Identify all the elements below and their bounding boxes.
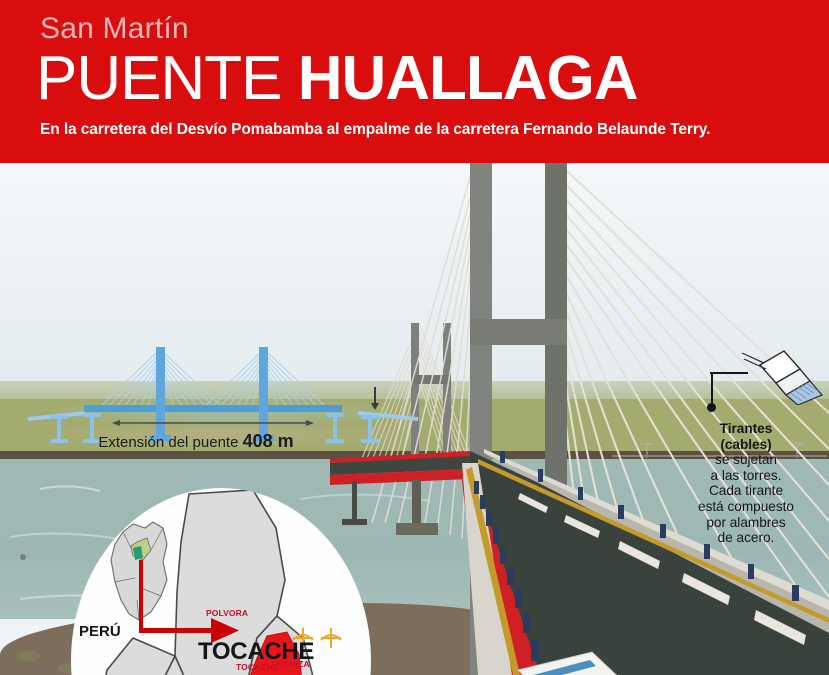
title-bold-part: HUALLAGA xyxy=(298,44,638,113)
page-title: PUENTE HUALLAGA xyxy=(36,48,638,110)
infographic-page: San Martín PUENTE HUALLAGA En la carrete… xyxy=(0,0,829,675)
cables-callout-text: Tirantes (cables) se sujetan a las torre… xyxy=(672,421,820,546)
down-arrow-icon-head xyxy=(371,403,379,410)
header-banner: San Martín PUENTE HUALLAGA En la carrete… xyxy=(0,0,829,163)
header-subtitle: En la carretera del Desvío Pomabamba al … xyxy=(40,121,710,138)
callout-line-2: (cables) xyxy=(672,437,820,453)
callout-line-3: se sujetan xyxy=(672,452,820,468)
map-label-tocache-district: TOCACHE xyxy=(236,663,279,672)
callout-line-8: de acero. xyxy=(672,530,820,546)
callout-line-5: Cada tirante xyxy=(672,483,820,499)
callout-line-4: a las torres. xyxy=(672,468,820,484)
bridge-length-value: 408 m xyxy=(243,431,294,451)
map-label-peru: PERÚ xyxy=(79,623,121,640)
callout-line-6: está compuesto xyxy=(672,499,820,515)
callout-line-1: Tirantes xyxy=(672,421,820,437)
map-label-uchiza: UCHIZA xyxy=(277,660,310,669)
deck-far-pier-2 xyxy=(412,479,421,525)
bridge-length-caption: Extensión del puente 408 m xyxy=(28,431,364,452)
callout-leader-horizontal xyxy=(710,372,748,374)
bridge-length-label: Extensión del puente xyxy=(98,434,242,451)
deck-far-pier-base-2 xyxy=(396,523,438,535)
region-kicker: San Martín xyxy=(40,14,189,44)
callout-leader-vertical xyxy=(711,373,713,405)
title-thin-part: PUENTE xyxy=(36,44,281,113)
cable-end-icon xyxy=(740,349,824,405)
callout-anchor-dot xyxy=(707,403,716,412)
bridge-illustration-scene: PTE. HUALLAGA Tirantes (cables) se sujet… xyxy=(0,163,829,675)
map-label-polvora: POLVORA xyxy=(206,609,248,618)
callout-line-7: por alambres xyxy=(672,515,820,531)
cargo-truck xyxy=(500,648,700,675)
